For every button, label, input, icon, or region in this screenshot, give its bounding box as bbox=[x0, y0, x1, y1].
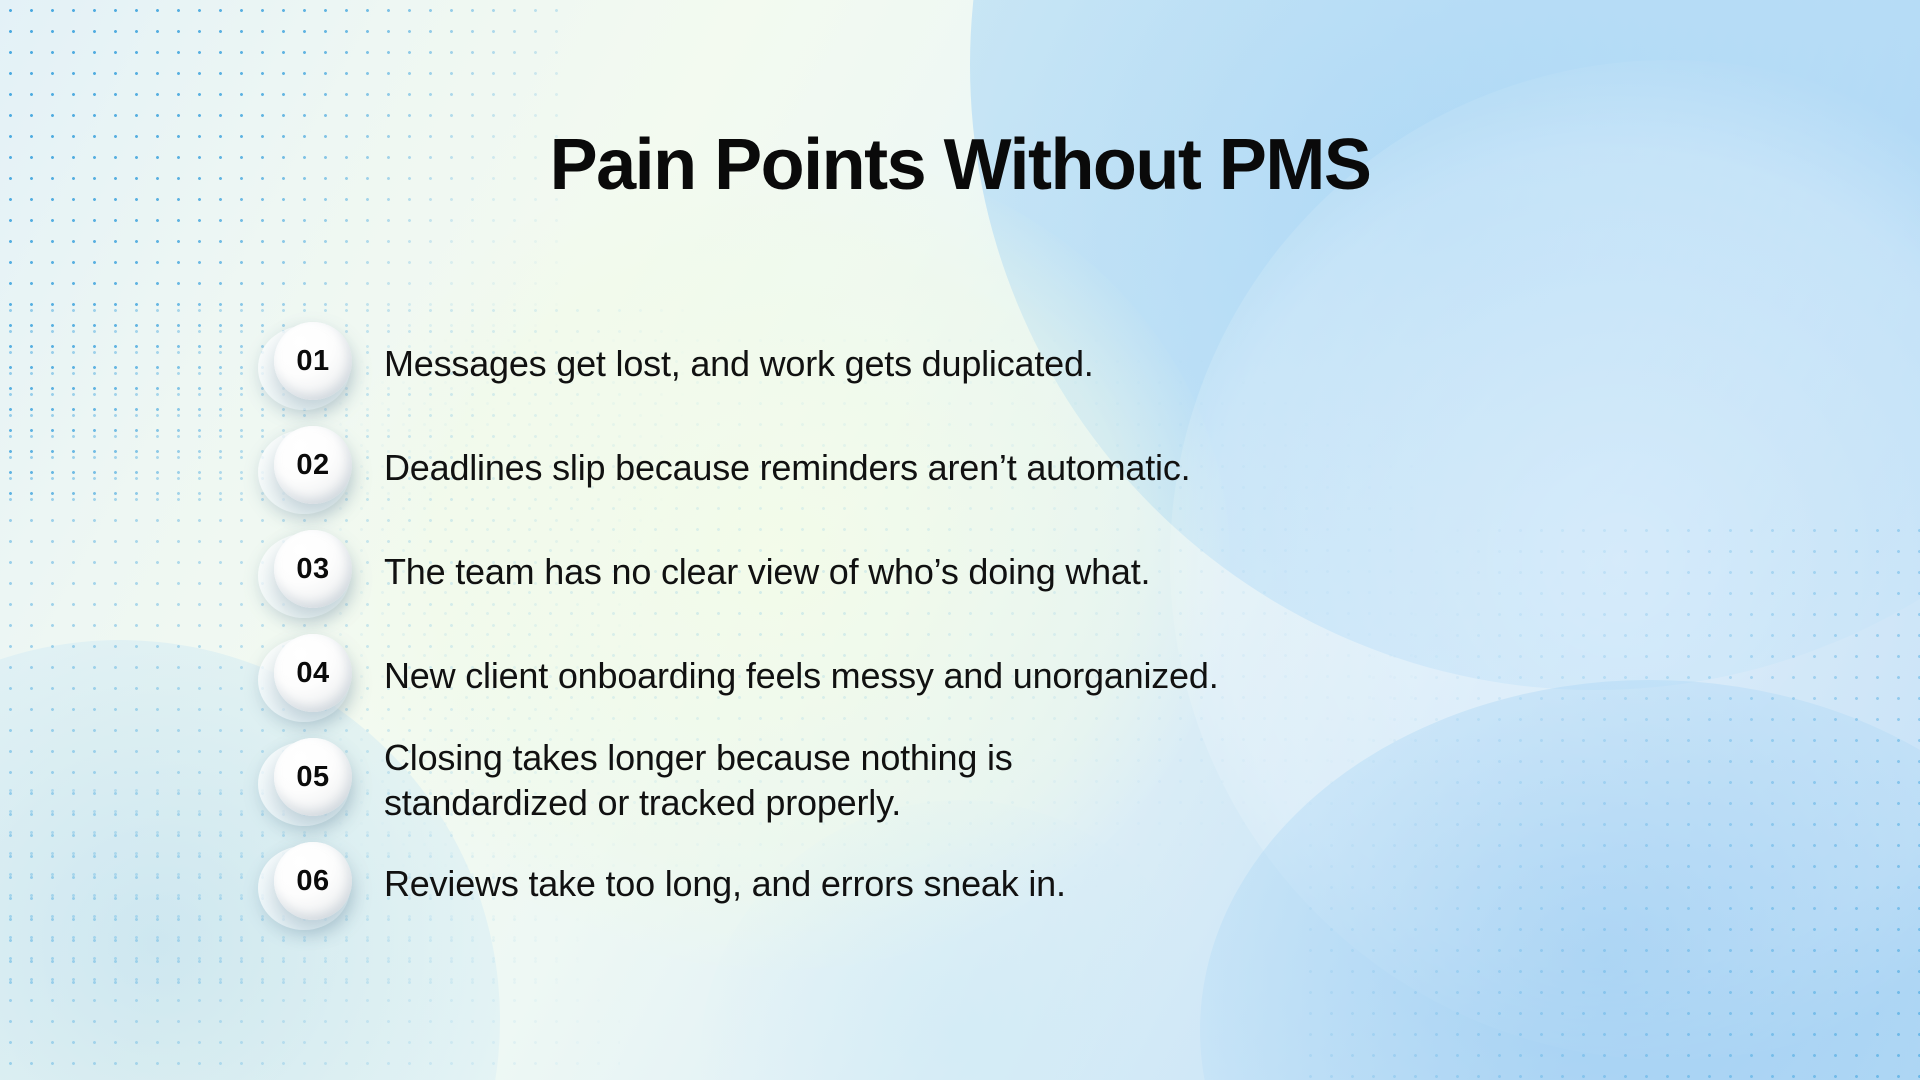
badge-05: 05 bbox=[258, 728, 380, 832]
list-item-line1: Deadlines slip because reminders aren’t … bbox=[384, 447, 1190, 488]
list-item-text: Deadlines slip because reminders aren’t … bbox=[380, 445, 1190, 490]
badge-number: 05 bbox=[296, 761, 329, 794]
badge-number: 06 bbox=[296, 865, 329, 898]
badge-number: 02 bbox=[296, 449, 329, 482]
list-item-line1: Messages get lost, and work gets duplica… bbox=[384, 343, 1094, 384]
number-coin: 05 bbox=[274, 738, 352, 816]
list-item: 04 New client onboarding feels messy and… bbox=[258, 624, 1758, 728]
number-coin: 06 bbox=[274, 842, 352, 920]
slide-canvas: Pain Points Without PMS 01 Messages get … bbox=[0, 0, 1920, 1080]
list-item: 06 Reviews take too long, and errors sne… bbox=[258, 832, 1758, 936]
badge-number: 01 bbox=[296, 345, 329, 378]
list-item-line1: Closing takes longer because nothing is bbox=[384, 737, 1013, 778]
badge-number: 03 bbox=[296, 553, 329, 586]
list-item-line2: standardized or tracked properly. bbox=[384, 780, 1013, 825]
badge-number: 04 bbox=[296, 657, 329, 690]
badge-04: 04 bbox=[258, 624, 380, 728]
number-coin: 02 bbox=[274, 426, 352, 504]
pain-point-list: 01 Messages get lost, and work gets dupl… bbox=[258, 312, 1758, 936]
list-item-line1: Reviews take too long, and errors sneak … bbox=[384, 863, 1066, 904]
badge-01: 01 bbox=[258, 312, 380, 416]
list-item-text: Closing takes longer because nothing is … bbox=[380, 735, 1013, 826]
list-item: 05 Closing takes longer because nothing … bbox=[258, 728, 1758, 832]
list-item-text: The team has no clear view of who’s doin… bbox=[380, 549, 1150, 594]
list-item: 01 Messages get lost, and work gets dupl… bbox=[258, 312, 1758, 416]
number-coin: 01 bbox=[274, 322, 352, 400]
list-item-line1: The team has no clear view of who’s doin… bbox=[384, 551, 1150, 592]
list-item: 02 Deadlines slip because reminders aren… bbox=[258, 416, 1758, 520]
list-item-text: Reviews take too long, and errors sneak … bbox=[380, 861, 1066, 906]
number-coin: 03 bbox=[274, 530, 352, 608]
badge-06: 06 bbox=[258, 832, 380, 936]
list-item-text: Messages get lost, and work gets duplica… bbox=[380, 341, 1094, 386]
badge-03: 03 bbox=[258, 520, 380, 624]
list-item: 03 The team has no clear view of who’s d… bbox=[258, 520, 1758, 624]
list-item-line1: New client onboarding feels messy and un… bbox=[384, 655, 1219, 696]
page-title: Pain Points Without PMS bbox=[0, 128, 1920, 204]
list-item-text: New client onboarding feels messy and un… bbox=[380, 653, 1219, 698]
number-coin: 04 bbox=[274, 634, 352, 712]
badge-02: 02 bbox=[258, 416, 380, 520]
